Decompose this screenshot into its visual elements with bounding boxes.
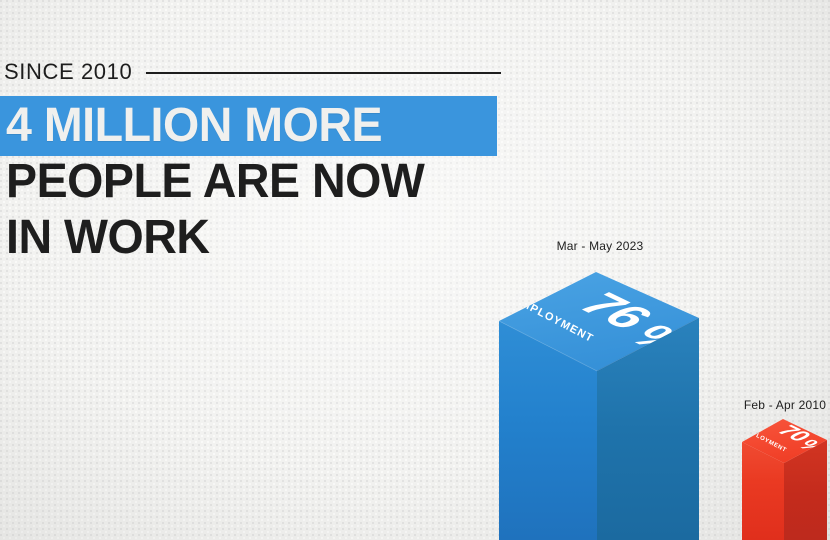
kicker-rule <box>146 72 501 74</box>
bar-2010-top-face-labels: 70 % EMPLOYMENT <box>742 422 830 457</box>
bar-2023-caption: EMPLOYMENT <box>511 294 595 346</box>
headline-line-1: 4 MILLION MORE <box>6 98 491 154</box>
bar-2023-left-face <box>499 321 597 540</box>
bar-2023-value: 76 <box>566 286 667 334</box>
infographic-stage: SINCE 2010 4 MILLION MORE PEOPLE ARE NOW… <box>0 0 830 540</box>
bar-2010-period-label: Feb - Apr 2010 <box>710 398 830 412</box>
bar-2010-right-face <box>784 440 827 540</box>
bar-2010-top-face <box>742 419 827 463</box>
bar-2010-left-face <box>742 442 784 540</box>
bar-2023-right-face <box>597 318 699 540</box>
bar-2010-value: 70 <box>771 422 817 444</box>
bar-2010-percent-symbol: % <box>792 437 830 457</box>
bar-2023-top-face <box>499 272 699 371</box>
bar-2023-top-face-labels: 76 % EMPLOYMENT <box>511 286 709 362</box>
kicker-text: SINCE 2010 <box>4 61 132 83</box>
bar-2023-percent-symbol: % <box>617 319 709 363</box>
bar-2010-caption: EMPLOYMENT <box>742 426 788 454</box>
bar-2023-period-label: Mar - May 2023 <box>520 239 680 253</box>
kicker-row: SINCE 2010 <box>4 58 524 86</box>
headline-line-2: PEOPLE ARE NOW <box>6 158 424 206</box>
headline-line-3: IN WORK <box>6 214 210 262</box>
